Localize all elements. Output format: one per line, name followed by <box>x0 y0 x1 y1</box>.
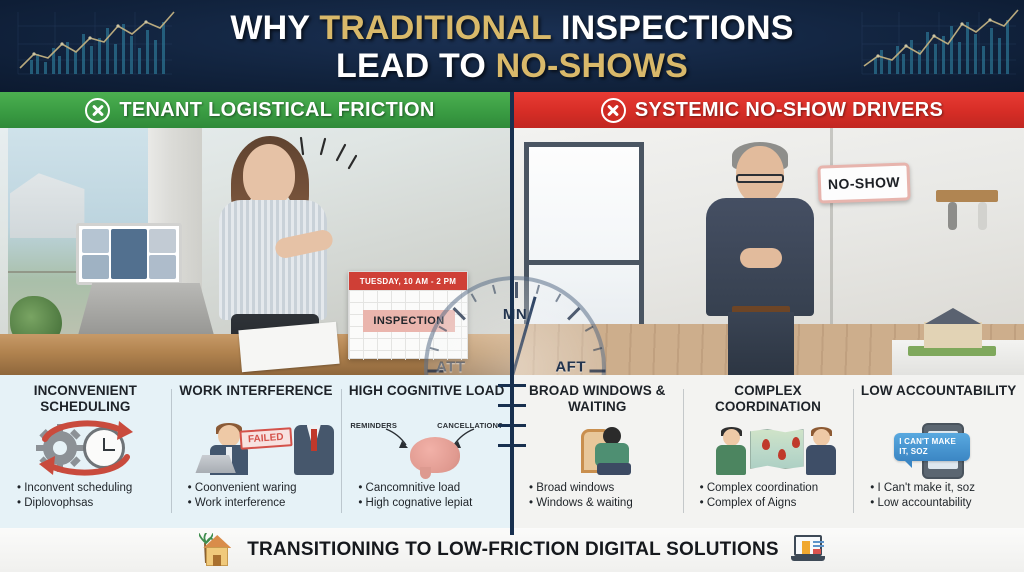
brain-icon: REMINDERS CANCELLATION? <box>348 417 505 479</box>
gear-clock-icon <box>7 417 164 479</box>
window-icon <box>524 142 644 354</box>
title-line-1: WHY TRADITIONAL INSPECTIONS <box>230 9 793 47</box>
card-title: BROAD WINDOWS & WAITING <box>519 383 676 415</box>
card-low-accountability[interactable]: LOW ACCOUNTABILITY I CAN'T MAKE IT, SOZ … <box>853 375 1024 528</box>
legs <box>597 463 631 475</box>
page-title: WHY TRADITIONAL INSPECTIONS LEAD TO NO-S… <box>180 5 844 89</box>
key-icon <box>978 202 987 230</box>
footer-text: TRANSITIONING TO LOW-FRICTION DIGITAL SO… <box>247 539 779 561</box>
video-tile-main <box>111 229 147 279</box>
divider-tick <box>498 444 526 447</box>
card-title: HIGH COGNITIVE LOAD <box>349 383 505 415</box>
bullet-item: I Can't make it, soz <box>870 481 1017 496</box>
laptop-base <box>791 556 825 561</box>
face <box>243 144 295 206</box>
card-bullets: Complex coordination Complex of Aigns <box>690 481 847 511</box>
jacket <box>716 445 746 475</box>
model-walls <box>924 322 982 348</box>
title-word-inspections: INSPECTIONS <box>551 9 793 47</box>
x-mark-icon <box>85 98 110 123</box>
title-word-traditional: TRADITIONAL <box>319 9 551 47</box>
card-bullets: Cancomnitive load High cognative lepiat <box>348 481 505 511</box>
title-word-leadto: LEAD TO <box>336 47 496 85</box>
house-palm-icon <box>199 533 235 567</box>
banner-left-label: TENANT LOGISTICAL FRICTION <box>119 99 434 122</box>
card-title: COMPLEX COORDINATION <box>690 383 847 415</box>
shirt <box>219 200 327 320</box>
divider-tick <box>498 424 526 427</box>
video-call-screen <box>76 223 182 285</box>
card-bullets: Inconvent scheduling Diplovophsas <box>7 481 164 511</box>
bullet-item: Low accountability <box>870 496 1017 511</box>
map-pin-icon <box>792 437 800 448</box>
card-high-cognitive-load[interactable]: HIGH COGNITIVE LOAD REMINDERS CANCELLATI… <box>341 375 512 528</box>
card-bullets: I Can't make it, soz Low accountability <box>860 481 1017 511</box>
banner-systemic-no-show-drivers: SYSTEMIC NO-SHOW DRIVERS <box>512 92 1024 128</box>
phone-message-icon: I CAN'T MAKE IT, SOZ <box>860 417 1017 479</box>
laptop-screen <box>794 535 822 556</box>
map-pin-icon <box>762 439 770 450</box>
face <box>813 429 830 446</box>
card-bullets: Broad windows Windows & waiting <box>519 481 676 511</box>
house-model-icon <box>904 306 1000 360</box>
divider-tick <box>498 384 526 387</box>
laptop-icon <box>791 535 825 565</box>
card-title: LOW ACCOUNTABILITY <box>861 383 1017 415</box>
glasses-icon <box>736 174 784 183</box>
card-title: WORK INTERFERENCE <box>179 383 332 415</box>
bullet-item: High cognative lepiat <box>358 496 505 511</box>
video-tile <box>149 255 176 279</box>
two-people-map-icon <box>690 417 847 479</box>
jacket <box>806 445 836 475</box>
bullet-item: Coonvenient waring <box>188 481 335 496</box>
person-left-figure <box>716 429 746 475</box>
banner-right-label: SYSTEMIC NO-SHOW DRIVERS <box>635 99 943 122</box>
map-icon <box>750 429 804 469</box>
card-work-interference[interactable]: WORK INTERFERENCE FAILED Coonvenient war… <box>171 375 342 528</box>
scene-tenant-home-office: TUESDAY, 10 AM - 2 PM INSPECTION <box>0 128 512 375</box>
cycle-arrows-icon <box>31 419 141 477</box>
x-mark-icon <box>601 98 626 123</box>
card-bullets: Coonvenient waring Work interference <box>178 481 335 511</box>
brain-shape <box>410 437 460 473</box>
chart-decoration-left <box>0 4 180 88</box>
wall-seam <box>830 128 833 328</box>
worker-laptop-failed-icon: FAILED <box>178 417 335 479</box>
bullet-item: Broad windows <box>529 481 676 496</box>
paper-document-icon <box>238 322 339 372</box>
hands-checking-watch <box>740 248 782 268</box>
video-tile <box>82 255 109 279</box>
face <box>723 429 740 446</box>
title-word-why: WHY <box>230 9 319 47</box>
title-bar: WHY TRADITIONAL INSPECTIONS LEAD TO NO-S… <box>0 0 1024 92</box>
message-bubble: I CAN'T MAKE IT, SOZ <box>894 433 970 461</box>
screen-block <box>813 549 821 554</box>
trousers <box>728 312 794 375</box>
video-tile <box>82 229 109 253</box>
bullet-item: Diplovophsas <box>17 496 164 511</box>
map-pin-icon <box>778 449 786 460</box>
no-show-sign-label: NO-SHOW <box>828 174 901 193</box>
screen-block <box>802 541 810 554</box>
center-divider <box>510 92 514 535</box>
bullet-item: Windows & waiting <box>529 496 676 511</box>
infographic-page: WHY TRADITIONAL INSPECTIONS LEAD TO NO-S… <box>0 0 1024 572</box>
screen-line <box>813 541 824 543</box>
vs-badge: VS <box>462 368 566 375</box>
video-tile <box>149 229 176 253</box>
bullet-item: Inconvent scheduling <box>17 481 164 496</box>
divider-tick <box>498 404 526 407</box>
bullet-item: Complex of Aigns <box>700 496 847 511</box>
card-inconvenient-scheduling[interactable]: INCONVENIENT SCHEDULING <box>0 375 171 528</box>
failed-stamp: FAILED <box>239 427 292 450</box>
face <box>218 425 240 447</box>
waiting-person-icon <box>519 417 676 479</box>
calendar-inspection-stamp: INSPECTION <box>363 310 455 332</box>
card-broad-windows-waiting[interactable]: BROAD WINDOWS & WAITING Broad windows Wi… <box>512 375 683 528</box>
bullet-item: Cancomnitive load <box>358 481 505 496</box>
bullet-item: Work interference <box>188 496 335 511</box>
scene-empty-property: NO-SHOW <box>512 128 1024 375</box>
inspection-calendar: TUESDAY, 10 AM - 2 PM INSPECTION <box>348 271 468 359</box>
key-rack <box>936 190 998 202</box>
waiting-agent-figure <box>690 140 830 375</box>
card-complex-coordination[interactable]: COMPLEX COORDINATION Complex coor <box>683 375 854 528</box>
title-line-2: LEAD TO NO-SHOWS <box>336 47 688 85</box>
empty-suit-icon <box>294 425 334 475</box>
person-right-figure <box>806 429 836 475</box>
door <box>213 555 221 566</box>
no-show-sign: NO-SHOW <box>817 162 910 203</box>
bullet-item: Complex coordination <box>700 481 847 496</box>
card-title: INCONVENIENT SCHEDULING <box>7 383 164 415</box>
key-icon <box>948 202 957 230</box>
calendar-header: TUESDAY, 10 AM - 2 PM <box>349 272 467 290</box>
banner-tenant-logistical-friction: TENANT LOGISTICAL FRICTION <box>0 92 512 128</box>
chart-decoration-right <box>844 4 1024 88</box>
screen-line <box>813 545 824 547</box>
title-word-noshows: NO-SHOWS <box>496 47 688 85</box>
